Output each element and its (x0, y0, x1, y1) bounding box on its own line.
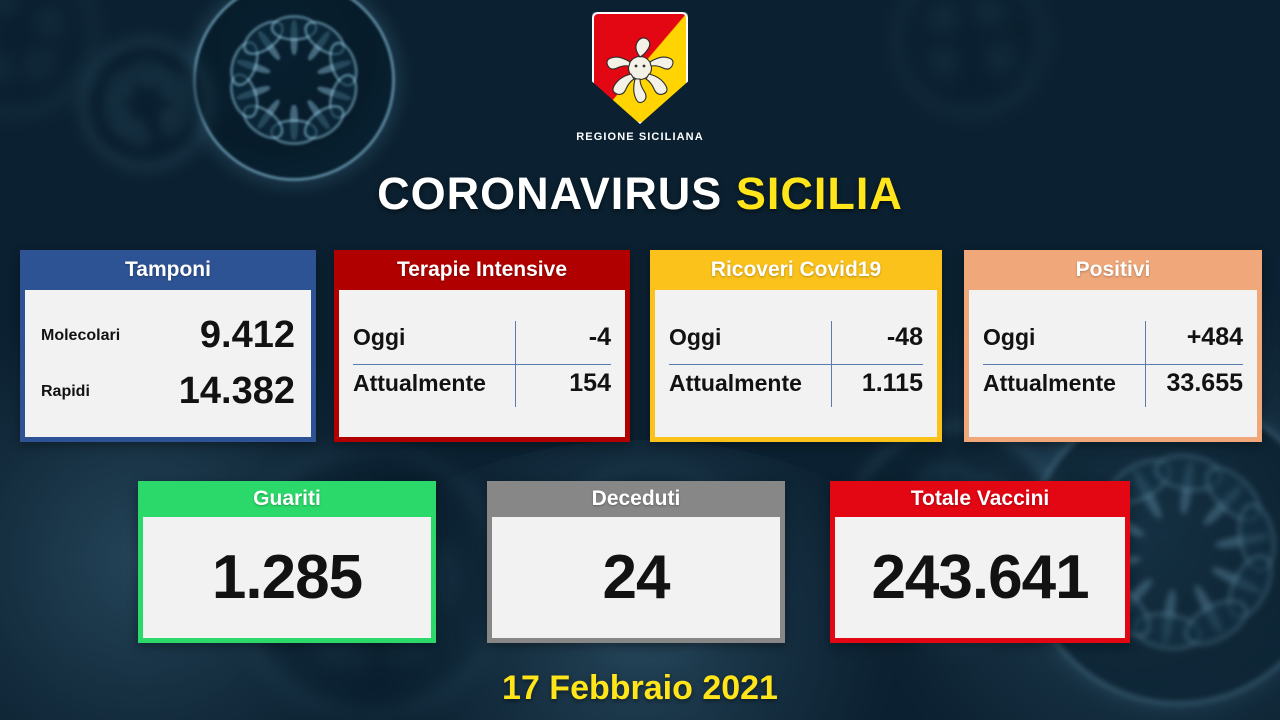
stat-row: Rapidi 14.382 (41, 364, 295, 420)
divider-vertical (1145, 321, 1146, 407)
stat-row-label: Rapidi (41, 383, 90, 401)
region-crest-caption: REGIONE SICILIANA (576, 131, 704, 143)
stat-card-body: Oggi -4 Attualmente 154 (339, 290, 625, 437)
trinacria-emblem-icon (592, 12, 688, 124)
stat-row-value: 154 (569, 369, 611, 398)
stat-row-label: Molecolari (41, 327, 120, 345)
page-title-main: CORONAVIRUS (377, 168, 722, 219)
stat-row-label: Oggi (353, 324, 405, 351)
stat-row: Attualmente 1.115 (669, 361, 923, 407)
stat-row-value: +484 (1187, 323, 1243, 352)
stat-row: Attualmente 154 (353, 361, 611, 407)
divider-horizontal (669, 364, 923, 365)
stat-card-tamponi[interactable]: Tamponi Molecolari 9.412 Rapidi 14.382 (20, 250, 316, 442)
stat-row-value: 9.412 (200, 314, 295, 357)
stat-row: Oggi -48 (669, 315, 923, 361)
stat-card-value: 1.285 (212, 542, 362, 613)
stat-kv-table: Molecolari 9.412 Rapidi 14.382 (25, 308, 311, 420)
stat-row: Attualmente 33.655 (983, 361, 1243, 407)
stat-card-terapie-intensive[interactable]: Terapie Intensive Oggi -4 Attualmente 15… (334, 250, 630, 442)
stat-card-body: Molecolari 9.412 Rapidi 14.382 (25, 290, 311, 437)
stat-kv-table: Oggi -48 Attualmente 1.115 (655, 311, 937, 417)
stat-card-title: Guariti (138, 481, 436, 517)
divider-horizontal (983, 364, 1243, 365)
stat-card-body: 24 (492, 517, 780, 638)
stat-card-body: 1.285 (143, 517, 431, 638)
stat-kv-table: Oggi +484 Attualmente 33.655 (969, 311, 1257, 417)
page-title: CORONAVIRUS SICILIA (0, 168, 1280, 220)
divider-vertical (831, 321, 832, 407)
stat-card-totale-vaccini[interactable]: Totale Vaccini 243.641 (830, 481, 1130, 643)
stat-row-label: Oggi (983, 324, 1035, 351)
stat-card-title: Totale Vaccini (830, 481, 1130, 517)
stat-row-label: Attualmente (983, 370, 1116, 397)
stat-card-value: 243.641 (871, 542, 1088, 613)
stat-card-title: Tamponi (20, 250, 316, 290)
page-title-accent: SICILIA (736, 168, 903, 219)
stat-kv-table: Oggi -4 Attualmente 154 (339, 311, 625, 417)
stat-card-deceduti[interactable]: Deceduti 24 (487, 481, 785, 643)
stat-row-value: 14.382 (179, 370, 295, 413)
stat-row-value: -48 (887, 323, 923, 352)
stat-row: Molecolari 9.412 (41, 308, 295, 364)
stat-card-positivi[interactable]: Positivi Oggi +484 Attualmente 33.655 (964, 250, 1262, 442)
stat-row-value: 1.115 (862, 369, 923, 398)
stat-card-body: Oggi +484 Attualmente 33.655 (969, 290, 1257, 437)
divider-horizontal (353, 364, 611, 365)
stat-card-title: Terapie Intensive (334, 250, 630, 290)
stat-row: Oggi +484 (983, 315, 1243, 361)
stat-row-label: Attualmente (669, 370, 802, 397)
stat-card-ricoveri-covid19[interactable]: Ricoveri Covid19 Oggi -48 Attualmente 1.… (650, 250, 942, 442)
stat-card-guariti[interactable]: Guariti 1.285 (138, 481, 436, 643)
stat-card-title: Deceduti (487, 481, 785, 517)
stat-row-value: -4 (589, 323, 611, 352)
region-crest-block: REGIONE SICILIANA (0, 12, 1280, 143)
stat-card-body: Oggi -48 Attualmente 1.115 (655, 290, 937, 437)
stat-row-label: Oggi (669, 324, 721, 351)
stat-card-title: Positivi (964, 250, 1262, 290)
stat-card-body: 243.641 (835, 517, 1125, 638)
divider-vertical (515, 321, 516, 407)
stat-row-label: Attualmente (353, 370, 486, 397)
stat-row-value: 33.655 (1167, 369, 1243, 398)
stat-row: Oggi -4 (353, 315, 611, 361)
infographic-canvas: REGIONE SICILIANA CORONAVIRUS SICILIA Ta… (0, 0, 1280, 720)
stat-card-title: Ricoveri Covid19 (650, 250, 942, 290)
stat-card-value: 24 (603, 542, 670, 613)
report-date: 17 Febbraio 2021 (0, 669, 1280, 708)
